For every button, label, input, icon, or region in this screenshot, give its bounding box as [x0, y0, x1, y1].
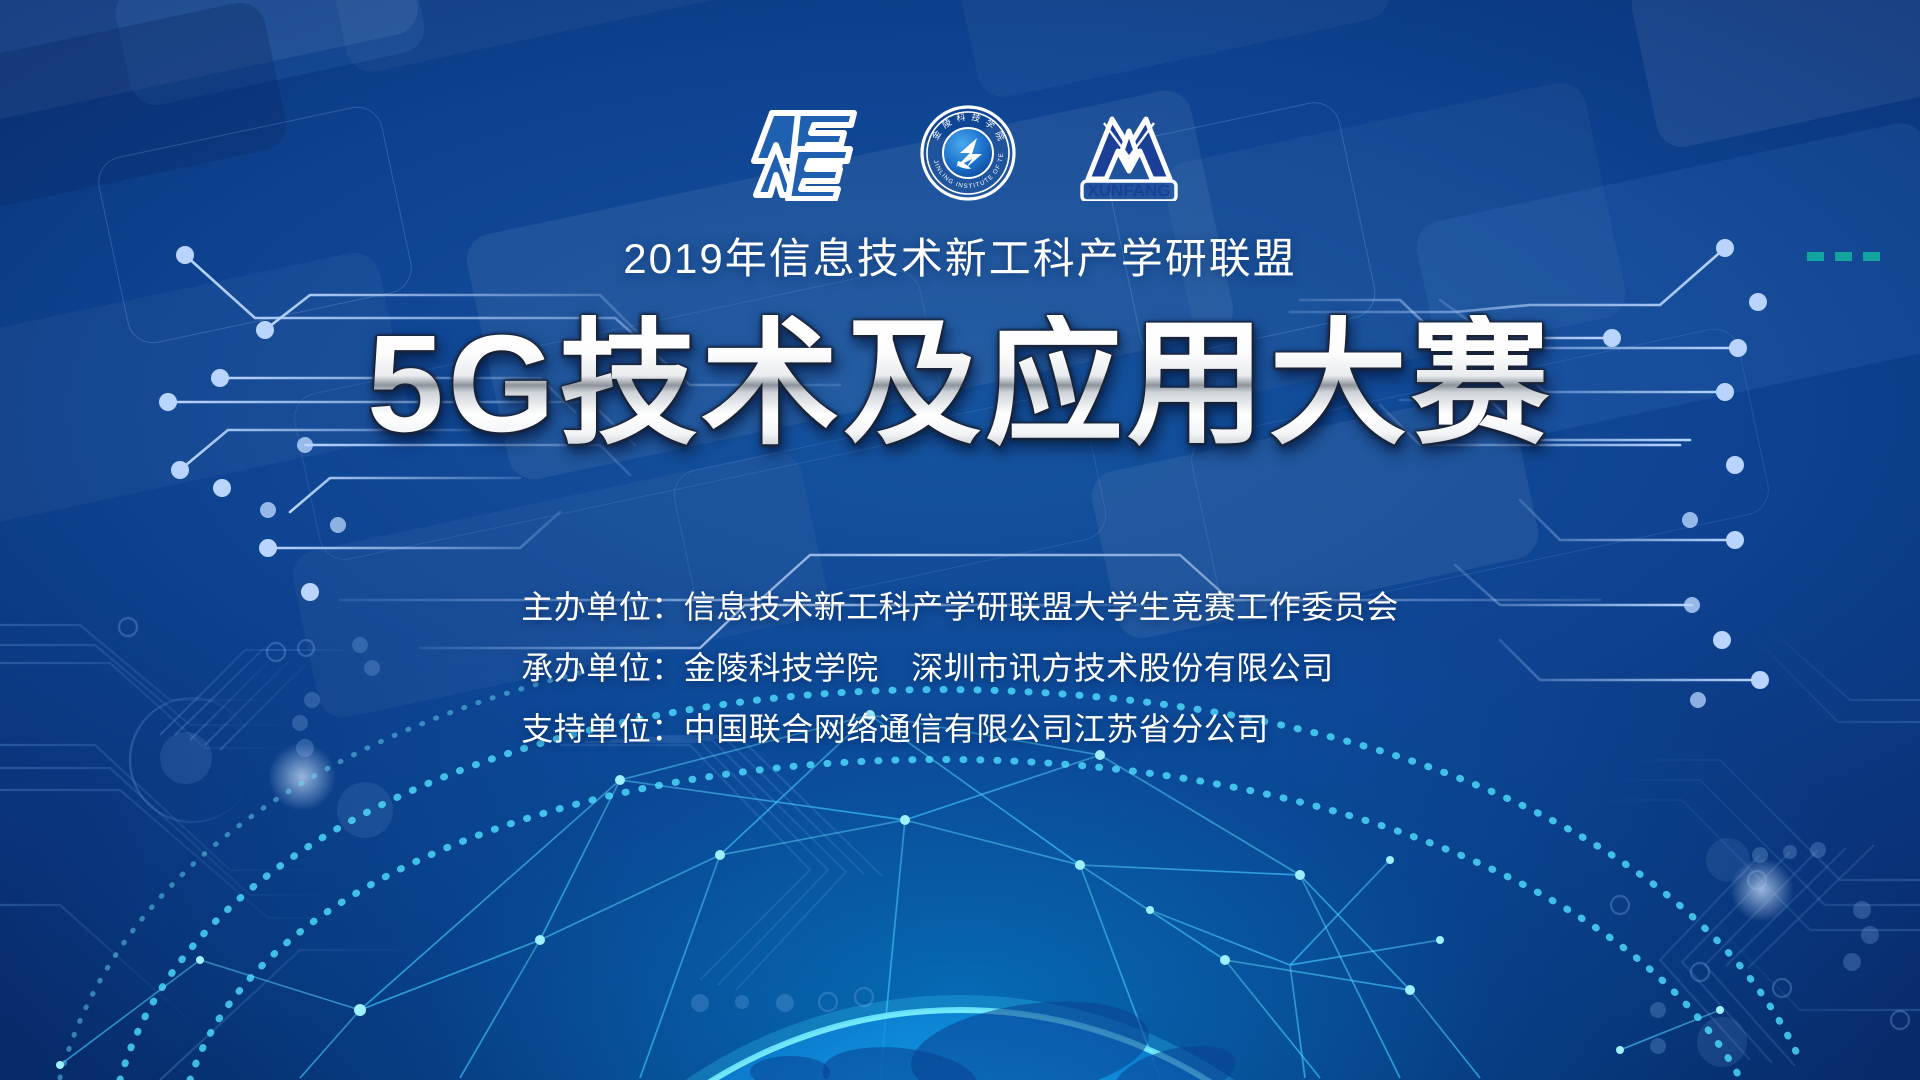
supporter-label: 支持单位：	[521, 711, 684, 747]
alliance-logo	[736, 105, 862, 201]
organizer-label: 主办单位：	[521, 589, 684, 625]
co-organizer-label: 承办单位：	[521, 650, 684, 686]
supporter-value: 中国联合网络通信有限公司江苏省分公司	[684, 711, 1269, 747]
organization-list: 主办单位：信息技术新工科产学研联盟大学生竞赛工作委员会 承办单位：金陵科技学院 …	[521, 582, 1399, 750]
promo-banner: 金陵科技学院 JINLING INSTITUTE OF TECHNOLOGY	[0, 0, 1920, 1080]
xunfang-logo: XUNFANG	[1074, 105, 1184, 201]
jinling-seal-logo: 金陵科技学院 JINLING INSTITUTE OF TECHNOLOGY	[920, 105, 1016, 201]
xunfang-wordmark: XUNFANG	[1087, 181, 1170, 200]
banner-title-wrap: 5G技术及应用大赛 5G技术及应用大赛	[367, 304, 1553, 464]
organizer-line: 主办单位：信息技术新工科产学研联盟大学生竞赛工作委员会	[521, 582, 1399, 628]
banner-title: 5G技术及应用大赛	[367, 315, 1553, 453]
organizer-value: 信息技术新工科产学研联盟大学生竞赛工作委员会	[684, 589, 1399, 625]
logo-row: 金陵科技学院 JINLING INSTITUTE OF TECHNOLOGY	[736, 103, 1184, 203]
banner-subtitle: 2019年信息技术新工科产学研联盟	[623, 225, 1296, 286]
co-organizer-line: 承办单位：金陵科技学院 深圳市讯方技术股份有限公司	[521, 643, 1399, 689]
co-organizer-value: 金陵科技学院 深圳市讯方技术股份有限公司	[684, 650, 1334, 686]
banner-content: 金陵科技学院 JINLING INSTITUTE OF TECHNOLOGY	[0, 0, 1920, 1080]
supporter-line: 支持单位：中国联合网络通信有限公司江苏省分公司	[521, 704, 1399, 750]
